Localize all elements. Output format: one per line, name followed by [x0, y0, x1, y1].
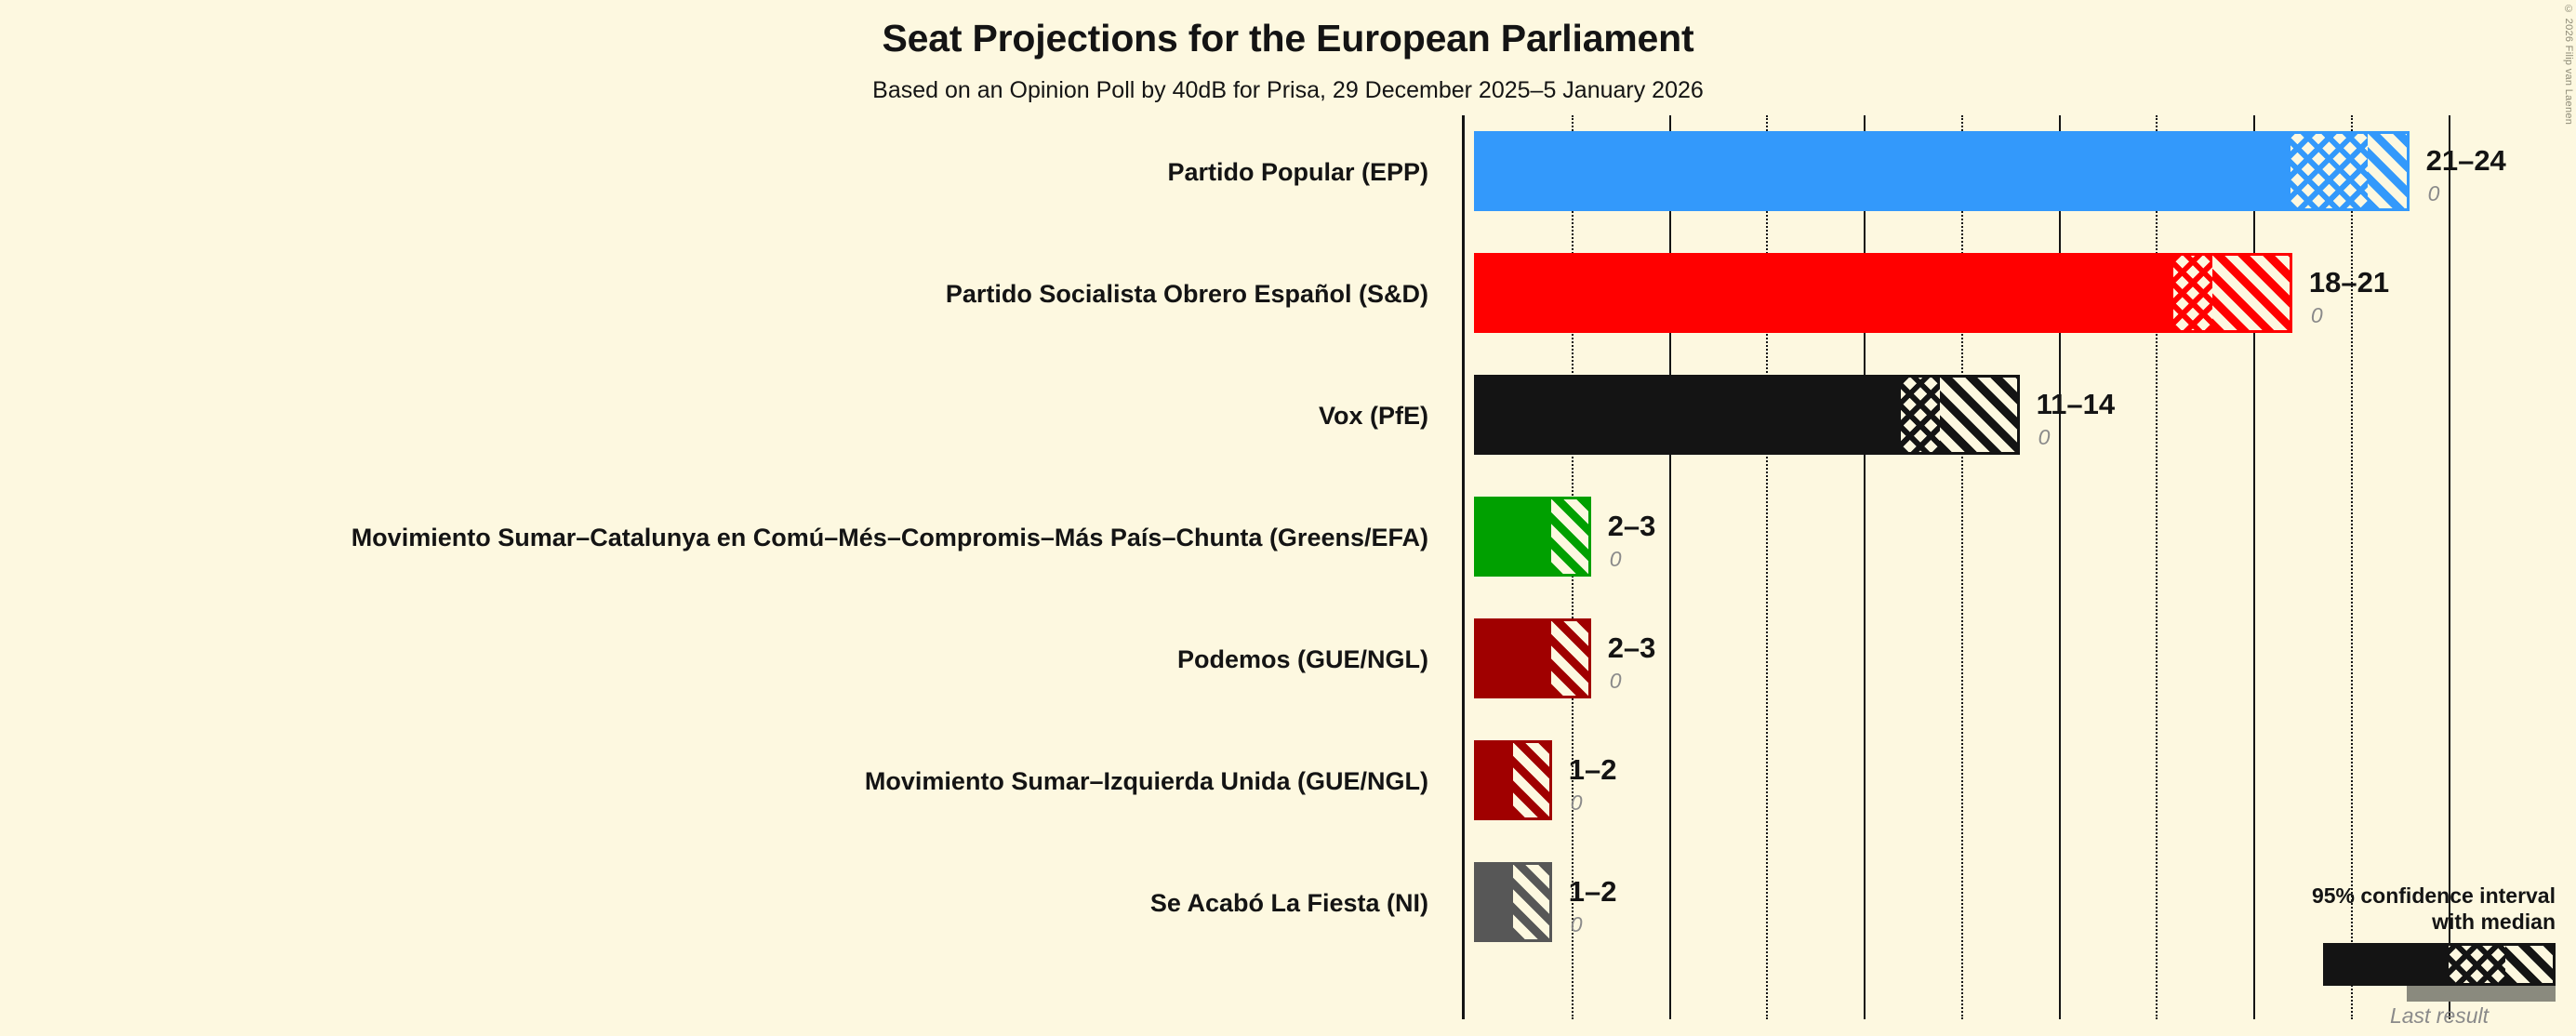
bar-segment-diagonal: [1551, 499, 1588, 574]
bar-segment-diagonal: [2368, 134, 2407, 208]
confidence-interval-bar[interactable]: [1474, 253, 2292, 333]
bar-segment-crosshatch: [1901, 378, 1939, 452]
confidence-interval-bar[interactable]: [1474, 740, 1552, 820]
last-result-value: 0: [1610, 669, 1622, 694]
chart-root: Seat Projections for the European Parlia…: [0, 0, 2576, 1036]
legend: 95% confidence interval with median Last…: [2230, 883, 2556, 1029]
confidence-interval-bar[interactable]: [1474, 497, 1591, 577]
copyright-text: © 2026 Filip van Laenen: [2563, 4, 2574, 125]
last-result-value: 0: [1571, 912, 1583, 937]
bar-row: [1474, 740, 2543, 820]
legend-last-result-label: Last result: [2323, 1003, 2556, 1029]
legend-seg-diagonal: [2505, 946, 2553, 983]
bar-segment-solid: [1477, 743, 1513, 817]
legend-seg-crosshatch: [2449, 946, 2505, 983]
bar-segment-diagonal: [1513, 743, 1549, 817]
legend-title-line2: with median: [2230, 909, 2556, 935]
category-label: Se Acabó La Fiesta (NI): [0, 889, 1428, 918]
legend-seg-solid: [2326, 946, 2449, 983]
last-result-value: 0: [1571, 790, 1583, 816]
value-range-label: 18–21: [2309, 266, 2389, 299]
value-range-label: 11–14: [2037, 388, 2116, 421]
value-range-label: 2–3: [1608, 631, 1656, 665]
bar-segment-diagonal: [1940, 378, 2017, 452]
confidence-interval-bar[interactable]: [1474, 131, 2410, 211]
last-result-value: 0: [2428, 181, 2440, 206]
confidence-interval-bar[interactable]: [1474, 862, 1552, 942]
category-label: Partido Popular (EPP): [0, 158, 1428, 187]
category-label: Podemos (GUE/NGL): [0, 645, 1428, 674]
category-label: Movimiento Sumar–Izquierda Unida (GUE/NG…: [0, 767, 1428, 796]
legend-last-result-bar: [2407, 986, 2556, 1002]
value-range-label: 1–2: [1569, 753, 1617, 787]
bar-segment-solid: [1477, 499, 1551, 574]
category-label: Vox (PfE): [0, 402, 1428, 431]
bar-segment-solid: [1477, 378, 1901, 452]
chart-title: Seat Projections for the European Parlia…: [0, 17, 2576, 60]
bar-segment-crosshatch: [2291, 134, 2368, 208]
y-axis-line: [1462, 115, 1465, 1019]
bar-segment-crosshatch: [2173, 256, 2212, 330]
bar-segment-diagonal: [1513, 865, 1549, 939]
bar-segment-solid: [1477, 256, 2173, 330]
last-result-value: 0: [1610, 547, 1622, 572]
last-result-value: 0: [2038, 425, 2051, 450]
legend-title: 95% confidence interval with median: [2230, 883, 2556, 935]
bar-segment-solid: [1477, 621, 1551, 696]
chart-subtitle: Based on an Opinion Poll by 40dB for Pri…: [0, 77, 2576, 104]
confidence-interval-bar[interactable]: [1474, 618, 1591, 698]
bar-row: [1474, 131, 2543, 211]
value-range-label: 21–24: [2426, 144, 2506, 178]
category-label: Partido Socialista Obrero Español (S&D): [0, 280, 1428, 309]
bar-segment-solid: [1477, 134, 2291, 208]
confidence-interval-bar[interactable]: [1474, 375, 2020, 455]
bar-segment-solid: [1477, 865, 1513, 939]
bar-segment-diagonal: [1551, 621, 1588, 696]
bar-segment-diagonal: [2212, 256, 2290, 330]
last-result-value: 0: [2311, 303, 2323, 328]
value-range-label: 1–2: [1569, 875, 1617, 909]
legend-interval-bar: [2323, 943, 2556, 986]
value-range-label: 2–3: [1608, 510, 1656, 543]
category-label: Movimiento Sumar–Catalunya en Comú–Més–C…: [0, 524, 1428, 552]
legend-title-line1: 95% confidence interval: [2230, 883, 2556, 909]
bar-row: [1474, 375, 2543, 455]
